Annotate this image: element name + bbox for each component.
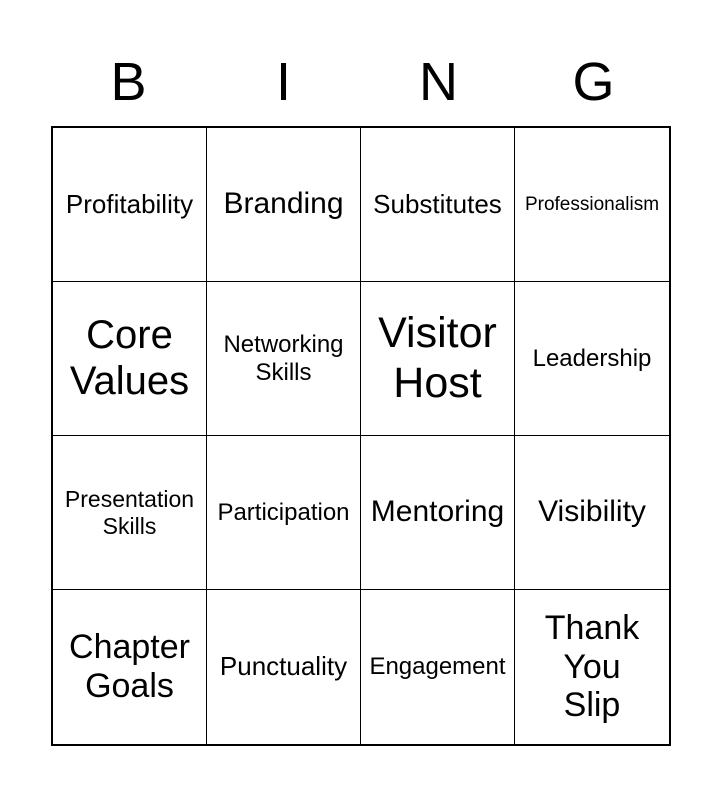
bingo-cell-label: Presentation Skills: [57, 486, 202, 538]
bingo-cell-r2-c2[interactable]: Networking Skills: [207, 282, 361, 436]
bingo-cell-label: Branding: [211, 187, 356, 221]
bingo-cell-r3-c2[interactable]: Participation: [207, 436, 361, 590]
bingo-cell-r1-c1[interactable]: Profitability: [53, 128, 207, 282]
bingo-cell-r4-c4[interactable]: Thank You Slip: [515, 590, 669, 744]
bingo-cell-label: Substitutes: [365, 190, 510, 220]
bingo-cell-label: Chapter Goals: [57, 628, 202, 706]
bingo-cell-label: Participation: [211, 499, 356, 526]
bingo-header-letter-g: G: [516, 46, 671, 118]
bingo-grid: ProfitabilityBrandingSubstitutesProfessi…: [51, 126, 671, 746]
bingo-cell-r2-c3[interactable]: Visitor Host: [361, 282, 515, 436]
bingo-cell-r1-c3[interactable]: Substitutes: [361, 128, 515, 282]
bingo-cell-r3-c1[interactable]: Presentation Skills: [53, 436, 207, 590]
bingo-cell-r3-c3[interactable]: Mentoring: [361, 436, 515, 590]
bingo-header-letter-b: B: [51, 46, 206, 118]
bingo-cell-label: Leadership: [519, 345, 665, 372]
bingo-cell-r4-c2[interactable]: Punctuality: [207, 590, 361, 744]
bingo-cell-r1-c4[interactable]: Professionalism: [515, 128, 669, 282]
bingo-cell-r2-c1[interactable]: Core Values: [53, 282, 207, 436]
bingo-header-letter-n: N: [361, 46, 516, 118]
bingo-cell-label: Profitability: [57, 190, 202, 220]
bingo-cell-r1-c2[interactable]: Branding: [207, 128, 361, 282]
bingo-cell-label: Professionalism: [519, 194, 665, 216]
bingo-cell-label: Thank You Slip: [519, 609, 665, 725]
bingo-header-letter-i: I: [206, 46, 361, 118]
bingo-cell-label: Networking Skills: [211, 331, 356, 386]
bingo-cell-r4-c3[interactable]: Engagement: [361, 590, 515, 744]
bingo-header-letters: BING: [51, 46, 671, 118]
bingo-cell-label: Visitor Host: [365, 309, 510, 407]
bingo-cell-label: Punctuality: [211, 652, 356, 682]
bingo-cell-label: Visibility: [519, 495, 665, 529]
bingo-cell-r4-c1[interactable]: Chapter Goals: [53, 590, 207, 744]
bingo-cell-r3-c4[interactable]: Visibility: [515, 436, 669, 590]
bingo-cell-r2-c4[interactable]: Leadership: [515, 282, 669, 436]
bingo-cell-label: Engagement: [365, 653, 510, 680]
bingo-cell-label: Mentoring: [365, 495, 510, 529]
bingo-card: BING ProfitabilityBrandingSubstitutesPro…: [0, 0, 723, 800]
bingo-cell-label: Core Values: [57, 313, 202, 404]
